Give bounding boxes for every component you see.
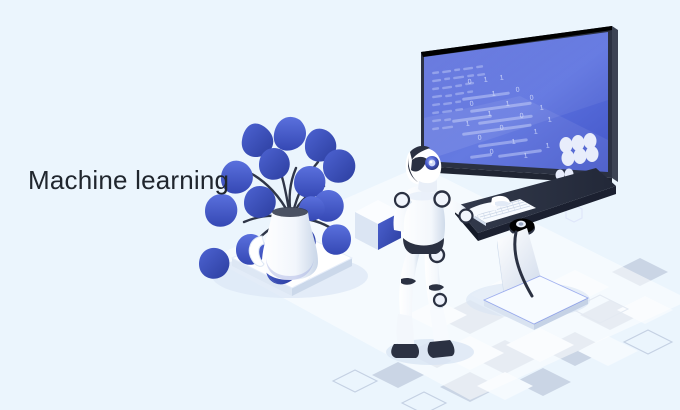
page-title: Machine learning <box>28 165 229 196</box>
illustration-canvas: 0 1 1 0 1 0 1 1 0 1 0 1 1 0 1 0 1 <box>0 0 680 410</box>
machine-learning-illustration: 0 1 1 0 1 0 1 1 0 1 0 1 1 0 1 0 1 <box>0 0 680 410</box>
